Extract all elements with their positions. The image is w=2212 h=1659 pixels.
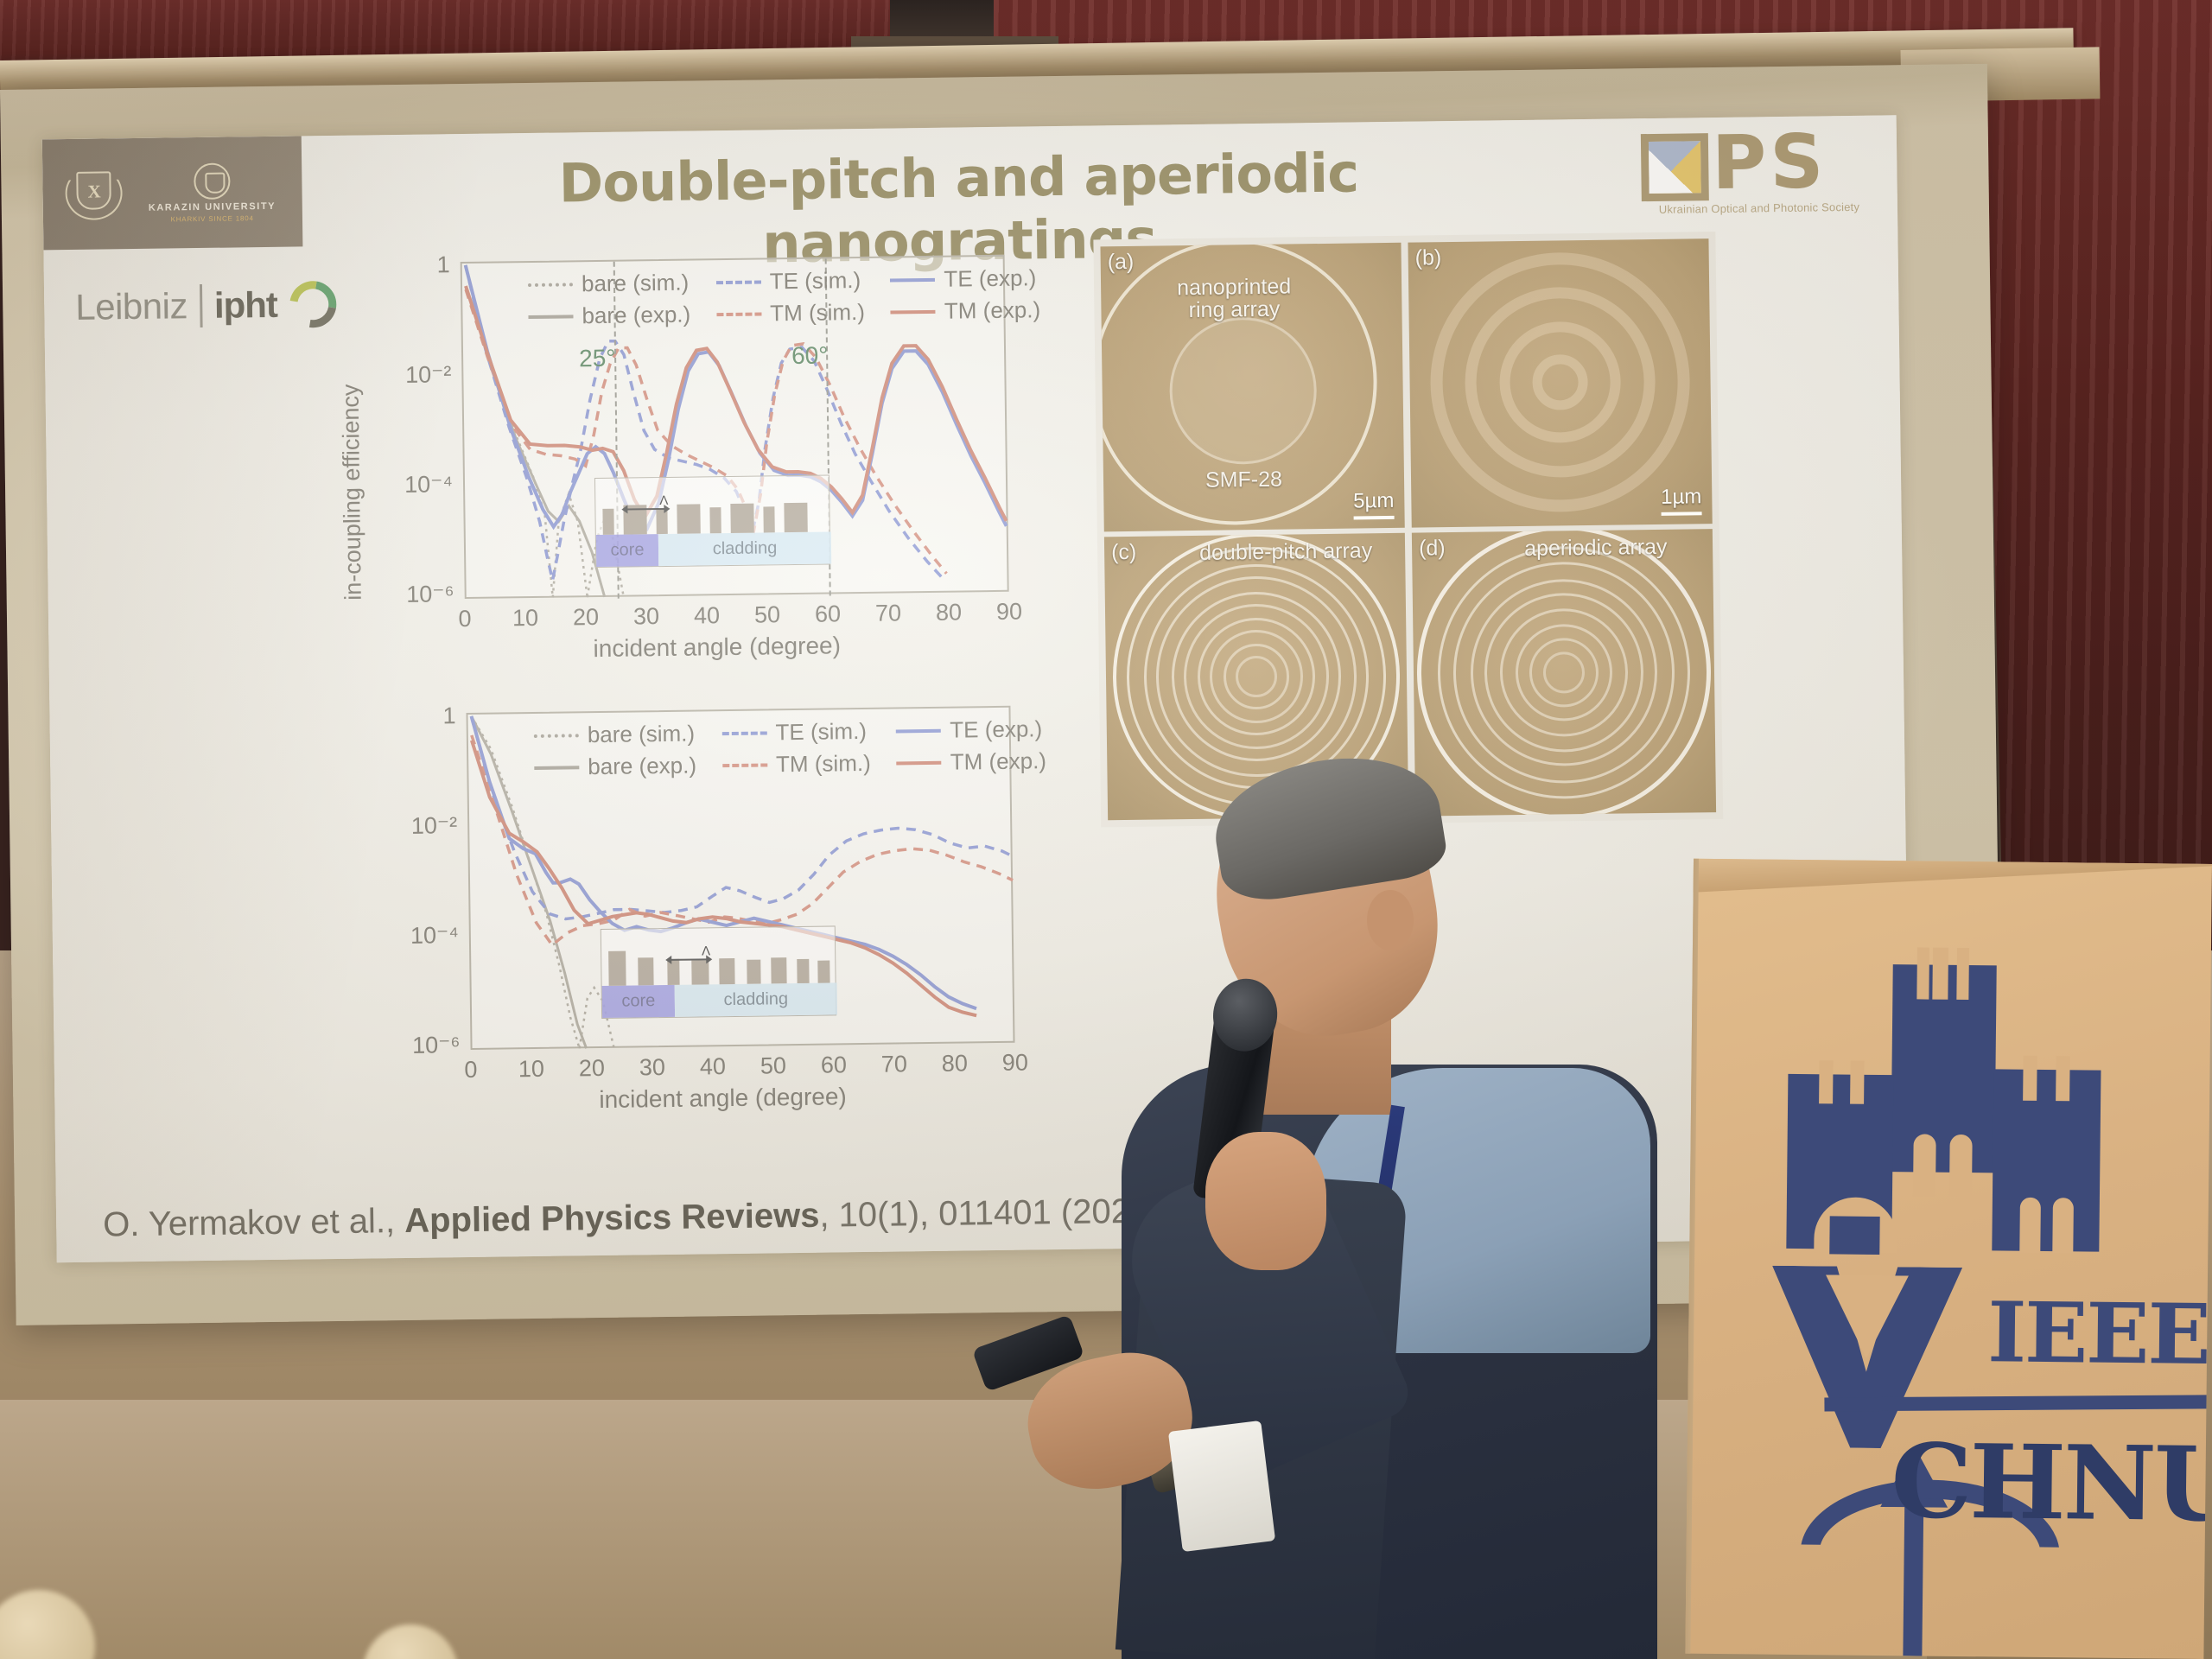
uops-caption: Ukrainian Optical and Photonic Society	[1642, 200, 1877, 217]
chart-top-xtick-6: 60	[802, 601, 854, 628]
legend-swatch-tm-sim-2	[722, 763, 767, 767]
chart-bottom-xtick-6: 60	[808, 1052, 860, 1079]
legend-item-tm-exp: TM (exp.)	[891, 296, 1041, 325]
legend-swatch-bare-exp	[528, 315, 573, 319]
sem-cell-b: (b) 1µm	[1408, 238, 1712, 528]
karazin-crest-letter: X	[87, 181, 100, 202]
sem-cell-b-scalebar: 1µm	[1661, 485, 1702, 516]
slide-citation: O. Yermakov et al., Applied Physics Revi…	[103, 1192, 1161, 1245]
chart-bottom-xtick-7: 70	[868, 1051, 920, 1078]
citation-authors: O. Yermakov et al.,	[103, 1202, 396, 1243]
legend-item-tm-exp-2: TM (exp.)	[897, 747, 1047, 776]
chart-bottom-xtick-2: 20	[566, 1055, 618, 1083]
sem-cell-d-caption: aperiodic array	[1524, 535, 1668, 562]
chart-top-annotation-25deg: 25°	[579, 345, 616, 373]
legend-item-te-exp-2: TE (exp.)	[896, 715, 1046, 744]
presenter-ear	[1367, 890, 1414, 950]
sem-cell-a-tag: (a)	[1108, 250, 1135, 275]
sem-cell-b-tag: (b)	[1415, 245, 1442, 270]
chart-top-xtick-4: 40	[681, 602, 733, 630]
chart-bottom-xtick-0: 0	[445, 1057, 497, 1084]
legend-item-bare-sim-2: bare (sim.)	[534, 721, 696, 749]
legend-swatch-te-exp	[890, 277, 935, 282]
legend-item-bare-exp: bare (exp.)	[528, 302, 690, 330]
legend-swatch-bare-sim-2	[534, 734, 579, 738]
uops-square-icon	[1641, 133, 1709, 201]
ieee-underline	[1824, 1395, 2212, 1411]
chart-bottom-xlabel: incident angle (degree)	[599, 1083, 847, 1114]
chart-top-xtick-2: 20	[560, 604, 612, 632]
legend-item-tm-sim-2: TM (sim.)	[722, 750, 871, 779]
chart-top-ytick-1: 10⁻²	[356, 361, 451, 389]
legend-swatch-te-sim-2	[722, 731, 767, 735]
chart-bottom-xtick-4: 40	[687, 1053, 739, 1081]
chart-top-ytick-3: 10⁻⁶	[359, 581, 454, 608]
chart-bottom-xtick-5: 50	[747, 1052, 799, 1080]
karazin-crest-icon: X	[65, 162, 123, 226]
chart-top-xtick-9: 90	[983, 598, 1035, 626]
legend-swatch-bare-exp-2	[534, 766, 579, 770]
conference-banner: IEEE CHNU	[1685, 859, 2212, 1659]
legend-item-te-exp: TE (exp.)	[890, 264, 1040, 293]
chart-top-xtick-8: 80	[923, 599, 975, 626]
karazin-seal-icon	[194, 162, 231, 200]
university-castle-icon	[1769, 963, 2152, 1253]
chart-top-xtick-1: 10	[499, 605, 551, 632]
legend-swatch-tm-sim	[716, 312, 761, 316]
sem-cell-a: (a) nanoprintedring array SMF-28 5µm	[1100, 243, 1404, 532]
sem-cell-d-tag: (d)	[1419, 536, 1446, 561]
uops-letter-s: S	[1770, 131, 1824, 200]
karazin-name-text: KARAZIN UNIVERSITY	[149, 200, 276, 213]
chart-bottom-inset-grating: core cladding Λ	[601, 925, 836, 1019]
karazin-wordmark: KARAZIN UNIVERSITY KHARKIV SINCE 1804	[148, 162, 276, 223]
presenter-name-badge	[1168, 1421, 1275, 1552]
legend-swatch-tm-exp-2	[897, 760, 942, 765]
university-logo-bar: X KARAZIN UNIVERSITY KHARKIV SINCE 1804	[42, 136, 303, 250]
chart-top-xlabel: incident angle (degree)	[593, 632, 841, 663]
sem-cell-a-scalebar: 5µm	[1353, 489, 1395, 520]
legend-item-te-sim: TE (sim.)	[716, 267, 865, 296]
chart-bottom-ytick-2: 10⁻⁴	[364, 922, 459, 950]
chart-top-xtick-0: 0	[439, 606, 491, 633]
chart-bottom-xtick-3: 30	[626, 1054, 678, 1082]
chart-bottom: 1 10⁻² 10⁻⁴ 10⁻⁶	[334, 697, 1031, 1112]
karazin-sub-text: KHARKIV SINCE 1804	[170, 214, 253, 223]
citation-journal: Applied Physics Reviews	[404, 1197, 820, 1240]
presenter-hand-holding-microphone	[1205, 1132, 1326, 1270]
legend-swatch-te-sim	[716, 280, 761, 284]
legend-item-tm-sim: TM (sim.)	[716, 299, 865, 327]
uops-logo: P S Ukrainian Optical and Photonic Socie…	[1641, 131, 1877, 217]
ipht-word: ipht	[214, 284, 278, 327]
chart-top-xtick-3: 30	[620, 603, 672, 631]
leibniz-word: Leibniz	[75, 285, 188, 328]
leibniz-divider	[200, 284, 203, 327]
chart-bottom-ytick-0: 1	[360, 702, 455, 730]
legend-item-te-sim-2: TE (sim.)	[721, 718, 870, 747]
chart-top-ytick-0: 1	[355, 251, 450, 279]
presenter-person	[1046, 760, 1668, 1659]
legend-item-bare-sim: bare (sim.)	[528, 270, 690, 298]
chart-top-xtick-5: 50	[741, 601, 793, 629]
chart-top-xtick-7: 70	[862, 600, 914, 627]
sem-cell-a-caption: nanoprintedring array	[1177, 275, 1292, 321]
chart-top-legend: bare (sim.) TE (sim.) TE (exp.) bare (ex…	[528, 264, 1041, 330]
chart-top-ytick-2: 10⁻⁴	[358, 471, 453, 499]
uops-letter-p: P	[1712, 132, 1767, 200]
sem-cell-c-caption: double-pitch array	[1199, 538, 1372, 566]
ieee-chapter-logo: IEEE CHNU	[1772, 1266, 2212, 1270]
leibniz-ipht-logo: Leibniz ipht	[75, 281, 336, 331]
chnu-wordmark: CHNU	[1891, 1421, 2212, 1544]
chart-bottom-legend: bare (sim.) TE (sim.) TE (exp.) bare (ex…	[534, 715, 1047, 781]
chart-top: in-coupling efficiency 1 10⁻² 10⁻⁴ 10⁻⁶	[329, 246, 1026, 661]
legend-swatch-te-exp-2	[896, 728, 941, 733]
chart-bottom-ytick-1: 10⁻²	[362, 812, 457, 840]
legend-swatch-bare-sim	[528, 283, 573, 287]
chart-bottom-xtick-8: 80	[929, 1050, 981, 1077]
sem-cell-c-tag: (c)	[1111, 540, 1137, 565]
chart-bottom-xtick-1: 10	[505, 1056, 557, 1084]
legend-swatch-tm-exp	[891, 309, 936, 314]
ieee-wordmark: IEEE	[1987, 1283, 2210, 1383]
chart-top-annotation-60deg: 60°	[791, 341, 829, 370]
inset-bottom-cladding-layer: cladding	[675, 983, 837, 1017]
legend-item-bare-exp-2: bare (exp.)	[534, 753, 696, 781]
inset-top-core-layer: core	[596, 534, 658, 567]
inset-bottom-core-layer: core	[602, 985, 675, 1018]
chart-bottom-xtick-9: 90	[989, 1049, 1041, 1077]
banner-top-edge	[1685, 859, 2212, 893]
inset-top-cladding-layer: cladding	[658, 532, 831, 566]
chart-bottom-ytick-3: 10⁻⁶	[365, 1032, 460, 1059]
sem-cell-a-sublabel: SMF-28	[1205, 467, 1282, 493]
sem-image-panel: (a) nanoprintedring array SMF-28 5µm (b)…	[1093, 232, 1723, 827]
chart-top-inset-grating: core cladding Λ	[594, 474, 830, 568]
